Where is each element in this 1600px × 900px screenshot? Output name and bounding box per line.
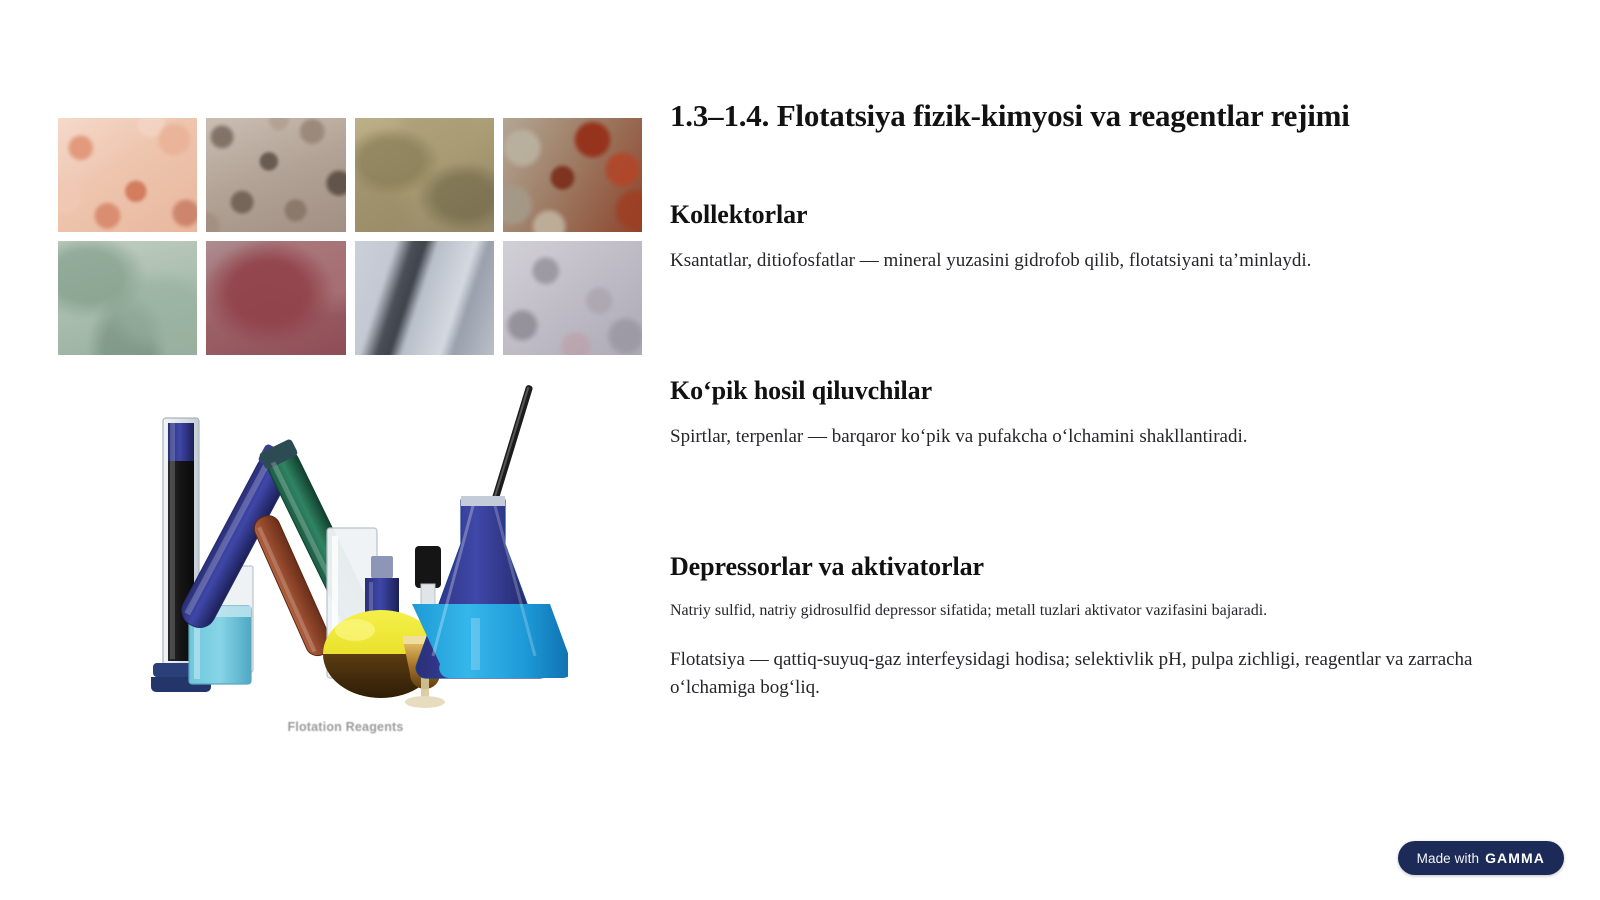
section-heading-kopik-hosil-qiluvchilar: Koʻpik hosil qiluvchilar [670,375,1508,408]
section-kopik-hosil-qiluvchilar: Koʻpik hosil qiluvchilar Spirtlar, terpe… [670,375,1508,451]
badge-made-with-label: Made with [1417,851,1479,866]
section-body-depressorlar-va-aktivatorlar: Natriy sulfid, natriy gidrosulfid depres… [670,599,1500,622]
section-body-flotatsiya-summary: Flotatsiya — qattiq-suyuq-gaz interfeysi… [670,646,1494,701]
section-depressorlar-va-aktivatorlar: Depressorlar va aktivatorlar Natriy sulf… [670,551,1508,702]
section-heading-kollektorlar: Kollektorlar [670,199,1508,232]
texture-fill [58,241,197,355]
texture-fill [355,241,494,355]
reagents-figure-caption: Flotation Reagents [123,720,568,734]
mineral-thumbnail-green-serpentine [58,241,197,355]
mineral-thumbnail-olive-tan-sand [355,118,494,232]
made-with-gamma-badge[interactable]: Made with GAMMA [1398,841,1564,875]
texture-fill [355,118,494,232]
section-heading-depressorlar-va-aktivatorlar: Depressorlar va aktivatorlar [670,551,1508,584]
mineral-thumbnail-pale-grey-granular [503,241,642,355]
left-visual-column: Flotation Reagents [58,118,648,768]
mineral-thumbnail-crushed-grey-ore [206,118,345,232]
reagents-figure: Flotation Reagents [123,378,568,753]
mineral-thumbnail-grid [58,118,642,355]
mineral-thumbnail-copper-red-ore [503,118,642,232]
mineral-thumbnail-grey-quartz-vein [355,241,494,355]
mineral-thumbnail-maroon-rock [206,241,345,355]
section-kollektorlar: Kollektorlar Ksantatlar, ditiofosfatlar … [670,199,1508,275]
slide-title: 1.3–1.4. Flotatsiya fizik-kimyosi va rea… [670,96,1430,137]
section-body-kopik-hosil-qiluvchilar: Spirtlar, terpenlar — barqaror koʻpik va… [670,423,1500,451]
reagents-illustration [123,378,568,718]
texture-fill [503,118,642,232]
texture-fill [206,241,345,355]
texture-fill [58,118,197,232]
section-body-kollektorlar: Ksantatlar, ditiofosfatlar — mineral yuz… [670,247,1500,275]
mineral-thumbnail-pink-halite-crystals [58,118,197,232]
texture-fill [503,241,642,355]
badge-brand-label: GAMMA [1485,850,1545,866]
content-column: 1.3–1.4. Flotatsiya fizik-kimyosi va rea… [670,96,1508,701]
slide-canvas: Flotation Reagents 1.3–1.4. Flotatsiya f… [0,0,1600,900]
texture-fill [206,118,345,232]
